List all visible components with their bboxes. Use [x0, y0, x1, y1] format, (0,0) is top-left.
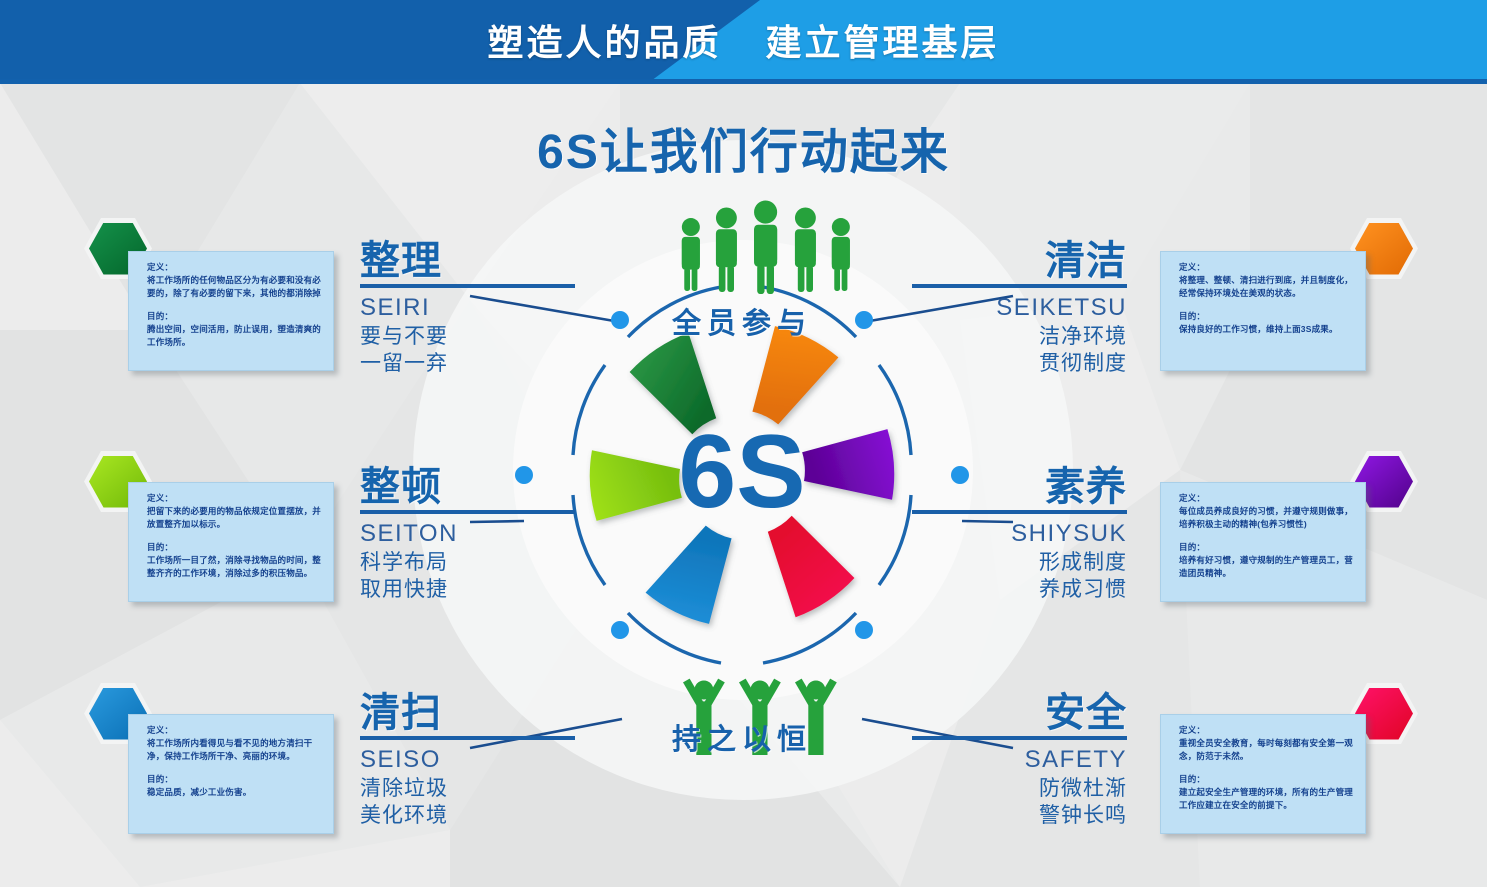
label-seiri: 整理 SEIRI 要与不要 一留一弃 — [360, 240, 575, 378]
purpose-label-shiysuk: 目的： — [1179, 541, 1355, 554]
poster-canvas: 塑造人的品质 建立管理基层 6S让我们行动起来 — [0, 0, 1487, 887]
label-safety-en: SAFETY — [912, 745, 1127, 775]
label-seiton-en: SEITON — [360, 519, 575, 549]
label-shiysuk-sub2: 养成习惯 — [912, 576, 1127, 603]
label-seiri-en: SEIRI — [360, 293, 575, 323]
info-card-seiso: 定义： 将工作场所内看得见与看不见的地方清扫干净，保持工作场所干净、亮丽的环境。… — [128, 714, 334, 834]
purpose-text-seiketsu: 保持良好的工作习惯，维持上面3S成果。 — [1179, 323, 1355, 336]
label-seiso-sub2: 美化环境 — [360, 802, 575, 829]
definition-label-seiso: 定义： — [147, 724, 323, 737]
definition-text-seiri: 将工作场所的任何物品区分为有必要和没有必要的，除了有必要的留下来，其他的都消除掉 — [147, 274, 323, 300]
definition-label-shiysuk: 定义： — [1179, 492, 1355, 505]
label-seiso: 清扫 SEISO 清除垃圾 美化环境 — [360, 692, 575, 830]
info-card-seiton: 定义： 把留下来的必要用的物品依规定位置摆放，并放置整齐加以标示。 目的： 工作… — [128, 482, 334, 602]
label-seiketsu-en: SEIKETSU — [912, 293, 1127, 323]
label-seiso-sub1: 清除垃圾 — [360, 775, 575, 802]
definition-text-seiso: 将工作场所内看得见与看不见的地方清扫干净，保持工作场所干净、亮丽的环境。 — [147, 737, 323, 763]
label-seiso-rule — [360, 736, 575, 740]
purpose-label-seiso: 目的： — [147, 773, 323, 786]
definition-text-shiysuk: 每位成员养成良好的习惯，并遵守规则做事，培养积极主动的精神(包养习惯性) — [1179, 505, 1355, 531]
info-card-seiketsu: 定义： 将整理、整顿、清扫进行到底，并且制度化，经常保持环境处在美观的状态。 目… — [1160, 251, 1366, 371]
label-shiysuk-sub1: 形成制度 — [912, 549, 1127, 576]
label-seiketsu-cn: 清洁 — [912, 240, 1127, 282]
label-safety-cn: 安全 — [912, 692, 1127, 734]
definition-label-seiri: 定义： — [147, 261, 323, 274]
purpose-text-seiton: 工作场所一目了然，消除寻找物品的时间，整整齐齐的工作环境，消除过多的积压物品。 — [147, 554, 323, 580]
purpose-label-seiri: 目的： — [147, 310, 323, 323]
segment-shiysuk — [796, 413, 906, 500]
label-shiysuk-rule — [912, 510, 1127, 514]
purpose-label-safety: 目的： — [1179, 773, 1355, 786]
label-seiton-cn: 整顿 — [360, 466, 575, 508]
label-seiri-rule — [360, 284, 575, 288]
definition-label-safety: 定义： — [1179, 724, 1355, 737]
definition-text-seiketsu: 将整理、整顿、清扫进行到底，并且制度化，经常保持环境处在美观的状态。 — [1179, 274, 1355, 300]
info-card-seiri: 定义： 将工作场所的任何物品区分为有必要和没有必要的，除了有必要的留下来，其他的… — [128, 251, 334, 371]
purpose-text-seiri: 腾出空间，空间活用，防止误用，塑造清爽的工作场所。 — [147, 323, 323, 349]
purpose-text-shiysuk: 培养有好习惯，遵守规制的生产管理员工，营造团员精神。 — [1179, 554, 1355, 580]
info-card-safety: 定义： 重视全员安全教育，每时每刻都有安全第一观念，防范于未然。 目的： 建立起… — [1160, 714, 1366, 834]
label-seiri-cn: 整理 — [360, 240, 575, 282]
label-seiketsu-rule — [912, 284, 1127, 288]
label-seiton-sub2: 取用快捷 — [360, 576, 575, 603]
purpose-text-safety: 建立起安全生产管理的环境，所有的生产管理工作应建立在安全的前提下。 — [1179, 786, 1355, 812]
label-seiton-sub1: 科学布局 — [360, 549, 575, 576]
label-seiketsu-sub1: 洁净环境 — [912, 323, 1127, 350]
purpose-label-seiton: 目的： — [147, 541, 323, 554]
label-seiton: 整顿 SEITON 科学布局 取用快捷 — [360, 466, 575, 604]
label-shiysuk-en: SHIYSUK — [912, 519, 1127, 549]
label-safety-sub1: 防微杜渐 — [912, 775, 1127, 802]
label-safety-rule — [912, 736, 1127, 740]
label-seiri-sub2: 一留一弃 — [360, 350, 575, 377]
wheel-center-label: 6S — [678, 414, 805, 530]
segment-seiso — [646, 520, 762, 638]
label-shiysuk-cn: 素养 — [912, 466, 1127, 508]
segment-seiton — [578, 450, 688, 537]
info-card-shiysuk: 定义： 每位成员养成良好的习惯，并遵守规则做事，培养积极主动的精神(包养习惯性)… — [1160, 482, 1366, 602]
label-safety-sub2: 警钟长鸣 — [912, 802, 1127, 829]
label-seiri-sub1: 要与不要 — [360, 323, 575, 350]
purpose-label-seiketsu: 目的： — [1179, 310, 1355, 323]
label-seiketsu: 清洁 SEIKETSU 洁净环境 贯彻制度 — [912, 240, 1127, 378]
label-safety: 安全 SAFETY 防微杜渐 警钟长鸣 — [912, 692, 1127, 830]
definition-label-seiketsu: 定义： — [1179, 261, 1355, 274]
label-seiso-cn: 清扫 — [360, 692, 575, 734]
label-seiton-rule — [360, 510, 575, 514]
label-seiso-en: SEISO — [360, 745, 575, 775]
purpose-text-seiso: 稳定品质，减少工业伤害。 — [147, 786, 323, 799]
people-standing-group-icon — [682, 201, 850, 294]
definition-text-seiton: 把留下来的必要用的物品依规定位置摆放，并放置整齐加以标示。 — [147, 505, 323, 531]
label-seiketsu-sub2: 贯彻制度 — [912, 350, 1127, 377]
definition-label-seiton: 定义： — [147, 492, 323, 505]
label-shiysuk: 素养 SHIYSUK 形成制度 养成习惯 — [912, 466, 1127, 604]
definition-text-safety: 重视全员安全教育，每时每刻都有安全第一观念，防范于未然。 — [1179, 737, 1355, 763]
